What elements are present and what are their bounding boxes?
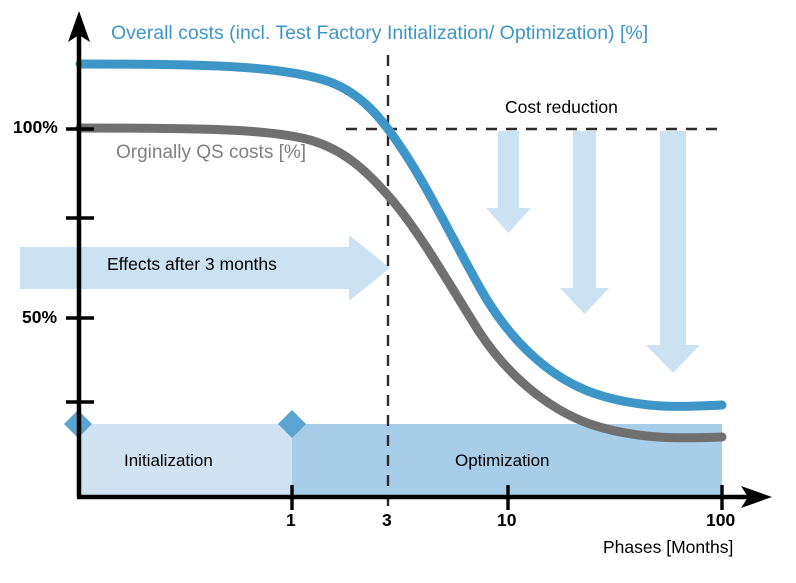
- phase-band-label-optimization: Optimization: [455, 452, 549, 469]
- series-label-originally-qs-costs: Orginally QS costs [%]: [116, 143, 306, 162]
- y-axis-label-100: 100%: [13, 119, 58, 137]
- chart-canvas: Overall costs (incl. Test Factory Initia…: [0, 0, 796, 583]
- x-axis-tick-label-1: 1: [286, 512, 296, 530]
- cost-reduction-arrow-2: [560, 131, 609, 314]
- phase-band-label-initialization: Initialization: [124, 452, 213, 469]
- series-line-overall-costs: [80, 64, 722, 406]
- y-axis-label-50: 50%: [22, 309, 57, 327]
- cost-reduction-arrow-1: [486, 131, 531, 233]
- chart-title: Overall costs (incl. Test Factory Initia…: [111, 24, 648, 44]
- x-axis-tick-label-3: 3: [382, 512, 392, 530]
- cost-reduction-label: Cost reduction: [505, 99, 618, 117]
- effects-arrow-label: Effects after 3 months: [107, 256, 277, 274]
- x-axis-title: Phases [Months]: [603, 539, 733, 557]
- chart-graphics: [0, 0, 796, 583]
- x-axis-tick-label-100: 100: [706, 512, 735, 530]
- cost-reduction-arrow-3: [646, 131, 700, 373]
- x-axis-tick-label-10: 10: [497, 512, 516, 530]
